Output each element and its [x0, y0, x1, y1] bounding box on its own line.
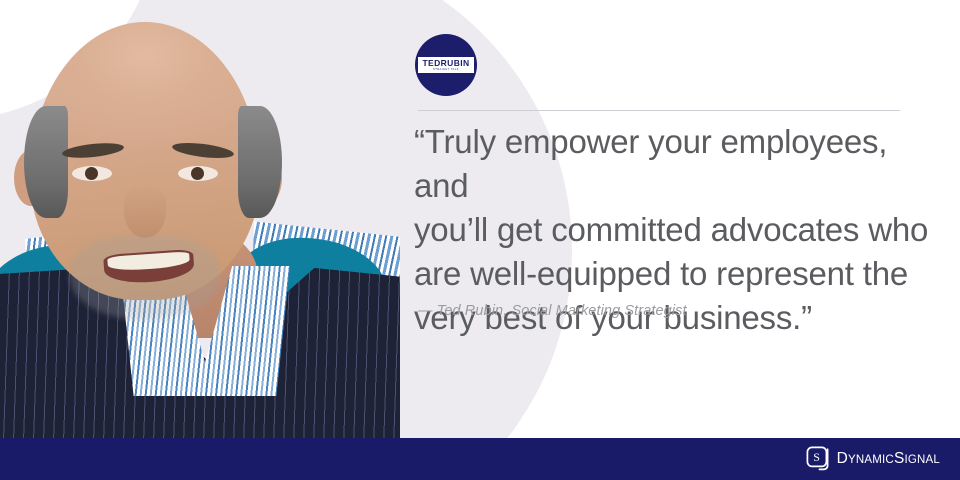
- portrait-nose: [124, 184, 166, 238]
- quote-line-3: are well-equipped to represent the: [414, 252, 930, 296]
- quote-line-1: “Truly empower your employees, and: [414, 120, 930, 208]
- dynamicsignal-brand-lockup: S DYNAMICSIGNAL: [806, 446, 940, 472]
- portrait-photo: [0, 0, 400, 440]
- tedrubin-logo-name: TEDRUBIN: [422, 59, 469, 68]
- brand-dynamic-rest: YNAMIC: [848, 454, 894, 466]
- portrait-teeth: [107, 251, 190, 272]
- brand-signal-rest: IGNAL: [904, 454, 940, 466]
- brand-s: S: [894, 450, 905, 467]
- dynamicsignal-brand-text: DYNAMICSIGNAL: [837, 450, 940, 468]
- portrait-eye-left: [72, 166, 112, 181]
- footer-bar: S DYNAMICSIGNAL: [0, 438, 960, 480]
- portrait-hair-left: [24, 106, 68, 218]
- tedrubin-logo-subtitle: STRAIGHT TALK: [433, 69, 459, 72]
- brand-d: D: [837, 450, 848, 467]
- quote-line-2: you’ll get committed advocates who: [414, 208, 930, 252]
- horizontal-divider: [418, 110, 900, 111]
- svg-text:S: S: [813, 450, 820, 464]
- dynamicsignal-logo-icon: S: [806, 446, 832, 472]
- tedrubin-logo-plate: TEDRUBIN STRAIGHT TALK: [418, 57, 473, 72]
- tedrubin-logo-badge: TEDRUBIN STRAIGHT TALK: [415, 34, 477, 96]
- portrait-hair-right: [238, 106, 282, 218]
- quote-attribution: — Ted Rubin, Social Marketing Strategist: [418, 303, 687, 319]
- portrait-eye-right: [178, 166, 218, 181]
- quote-graphic-canvas: TEDRUBIN STRAIGHT TALK “Truly empower yo…: [0, 0, 960, 480]
